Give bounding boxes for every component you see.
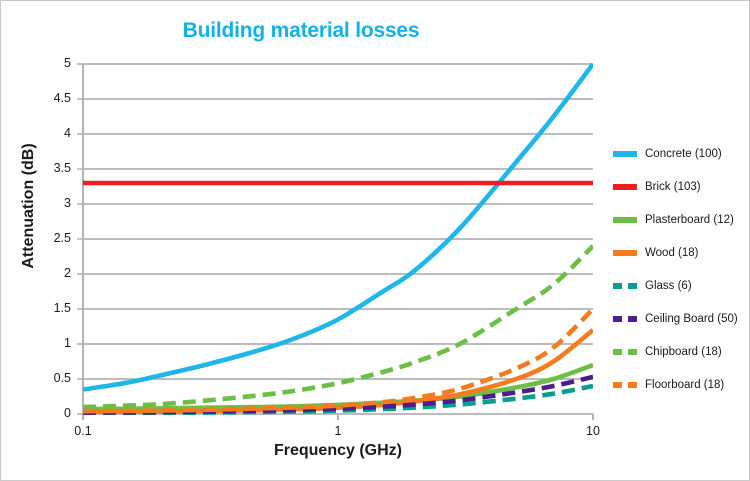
y-tick-label: 4.5 [31, 91, 71, 105]
x-tick-label: 10 [571, 424, 615, 438]
legend-swatch-icon [613, 382, 637, 388]
legend-swatch-icon [613, 217, 637, 223]
y-tick-label: 0.5 [31, 371, 71, 385]
y-tick-label: 1.5 [31, 301, 71, 315]
legend-item[interactable]: Wood (18) [613, 236, 750, 269]
y-tick-label: 1 [31, 336, 71, 350]
legend-item-label: Chipboard (18) [645, 346, 722, 358]
legend-item-label: Concrete (100) [645, 148, 722, 160]
y-tick-label: 4 [31, 126, 71, 140]
series-line [83, 309, 593, 411]
legend-swatch-icon [613, 283, 637, 289]
legend-item[interactable]: Floorboard (18) [613, 368, 750, 401]
y-tick-label: 3.5 [31, 161, 71, 175]
legend-item-label: Brick (103) [645, 181, 701, 193]
legend-item-label: Floorboard (18) [645, 379, 724, 391]
series-line [83, 246, 593, 407]
legend-item[interactable]: Concrete (100) [613, 137, 750, 170]
legend-swatch-icon [613, 250, 637, 256]
x-axis-label: Frequency (GHz) [83, 442, 593, 460]
legend-item-label: Plasterboard (12) [645, 214, 734, 226]
legend-swatch-icon [613, 184, 637, 190]
chart-figure: Building material losses Attenuation (dB… [0, 0, 750, 481]
legend-swatch-icon [613, 349, 637, 355]
legend-swatch-icon [613, 316, 637, 322]
legend-item-label: Ceiling Board (50) [645, 313, 738, 325]
legend-item[interactable]: Glass (6) [613, 269, 750, 302]
y-tick-label: 5 [31, 56, 71, 70]
legend-item[interactable]: Plasterboard (12) [613, 203, 750, 236]
x-tick-label: 0.1 [61, 424, 105, 438]
series-line [83, 330, 593, 412]
legend-item[interactable]: Brick (103) [613, 170, 750, 203]
legend-item-label: Glass (6) [645, 280, 692, 292]
legend-item[interactable]: Ceiling Board (50) [613, 302, 750, 335]
legend-item[interactable]: Chipboard (18) [613, 335, 750, 368]
legend-item-label: Wood (18) [645, 247, 698, 259]
y-tick-label: 2 [31, 266, 71, 280]
legend: Concrete (100)Brick (103)Plasterboard (1… [613, 137, 750, 401]
y-tick-label: 2.5 [31, 231, 71, 245]
legend-swatch-icon [613, 151, 637, 157]
y-tick-label: 3 [31, 196, 71, 210]
y-tick-label: 0 [31, 406, 71, 420]
series-line [83, 365, 593, 409]
x-tick-label: 1 [316, 424, 360, 438]
series-line [83, 64, 593, 390]
